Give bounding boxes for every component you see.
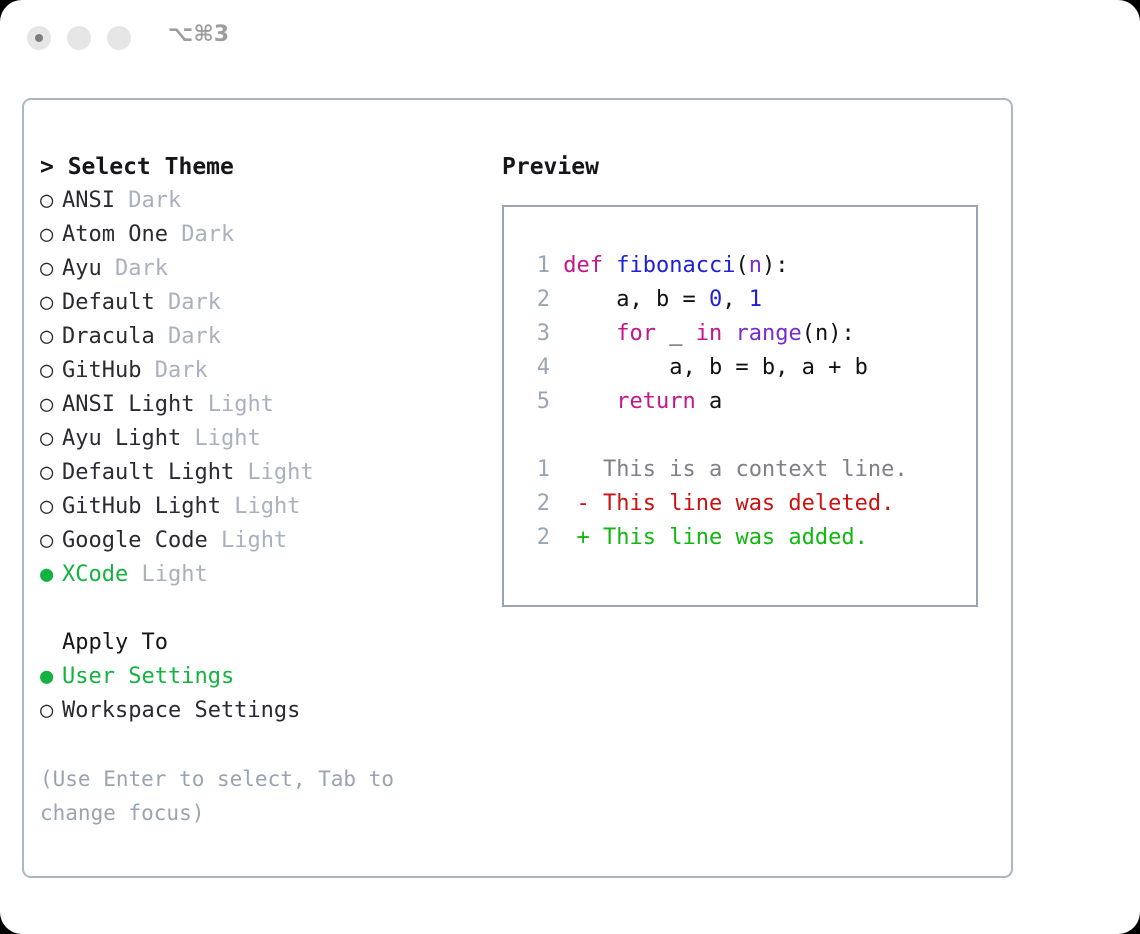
app-window: ⌥⌘3 > Select Theme ○ANSI Dark○Atom One D… xyxy=(0,0,1140,934)
code-token: ): xyxy=(762,253,789,278)
gutter-space xyxy=(550,491,577,516)
theme-option-dracula[interactable]: ○Dracula Dark xyxy=(40,320,480,354)
code-token: ( xyxy=(735,253,748,278)
code-token xyxy=(563,321,616,346)
gutter-space xyxy=(550,287,563,312)
theme-name: XCode xyxy=(62,562,128,587)
theme-list-column: > Select Theme ○ANSI Dark○Atom One Dark○… xyxy=(40,150,480,830)
diff-sign xyxy=(577,457,590,482)
code-line: 2 a, b = 0, 1 xyxy=(522,283,972,317)
code-line: 4 a, b = b, a + b xyxy=(522,351,972,385)
radio-selected-icon: ● xyxy=(40,660,62,694)
space xyxy=(221,494,234,519)
page-title: > Select Theme xyxy=(40,150,480,184)
radio-unselected-icon: ○ xyxy=(40,524,62,558)
theme-option-google-code[interactable]: ○Google Code Light xyxy=(40,524,480,558)
space xyxy=(234,460,247,485)
line-number: 5 xyxy=(522,385,550,419)
theme-selector-panel: > Select Theme ○ANSI Dark○Atom One Dark○… xyxy=(22,98,1013,878)
code-token: a xyxy=(696,389,723,414)
theme-name: Default xyxy=(62,290,155,315)
line-number: 4 xyxy=(522,351,550,385)
theme-kind-label: Dark xyxy=(128,188,181,213)
radio-unselected-icon: ○ xyxy=(40,456,62,490)
minimize-button[interactable] xyxy=(67,26,91,50)
code-token: return xyxy=(616,389,695,414)
space xyxy=(168,222,181,247)
space xyxy=(155,324,168,349)
theme-option-ayu[interactable]: ○Ayu Dark xyxy=(40,252,480,286)
theme-kind-label: Dark xyxy=(115,256,168,281)
radio-unselected-icon: ○ xyxy=(40,422,62,456)
space xyxy=(208,528,221,553)
apply-to-list: ●User Settings○Workspace Settings xyxy=(40,660,480,728)
theme-name: ANSI Light xyxy=(62,392,194,417)
line-number: 3 xyxy=(522,317,550,351)
theme-option-ansi-light[interactable]: ○ANSI Light Light xyxy=(40,388,480,422)
theme-option-github-light[interactable]: ○GitHub Light Light xyxy=(40,490,480,524)
theme-name: Ayu xyxy=(62,256,102,281)
gutter-space xyxy=(550,525,577,550)
radio-unselected-icon: ○ xyxy=(40,218,62,252)
diff-line: 1 This is a context line. xyxy=(522,453,972,487)
code-token: for xyxy=(616,321,656,346)
gutter-space xyxy=(550,321,563,346)
code-token: 0 xyxy=(709,287,722,312)
theme-name: Dracula xyxy=(62,324,155,349)
radio-unselected-icon: ○ xyxy=(40,286,62,320)
theme-kind-label: Dark xyxy=(155,358,208,383)
theme-option-atom-one[interactable]: ○Atom One Dark xyxy=(40,218,480,252)
radio-unselected-icon: ○ xyxy=(40,694,62,728)
code-token: a, b = xyxy=(563,287,709,312)
blank-line xyxy=(522,419,972,453)
apply-to-label: Apply To xyxy=(40,626,480,660)
apply-to-name: User Settings xyxy=(62,664,234,689)
diff-text: This line was added. xyxy=(590,525,868,550)
theme-name: Default Light xyxy=(62,460,234,485)
code-token: a, b = b, a + b xyxy=(563,355,868,380)
code-line: 5 return a xyxy=(522,385,972,419)
theme-option-default-light[interactable]: ○Default Light Light xyxy=(40,456,480,490)
theme-kind-label: Light xyxy=(221,528,287,553)
theme-kind-label: Light xyxy=(247,460,313,485)
diff-text: This line was deleted. xyxy=(590,491,895,516)
theme-name: Ayu Light xyxy=(62,426,181,451)
code-token xyxy=(603,253,616,278)
code-token: in xyxy=(696,321,723,346)
radio-selected-icon: ● xyxy=(40,558,62,592)
radio-unselected-icon: ○ xyxy=(40,320,62,354)
space xyxy=(128,562,141,587)
diff-line: 2 - This line was deleted. xyxy=(522,487,972,521)
theme-option-ayu-light[interactable]: ○Ayu Light Light xyxy=(40,422,480,456)
preview-title: Preview xyxy=(502,150,992,184)
theme-option-ansi[interactable]: ○ANSI Dark xyxy=(40,184,480,218)
diff-sign: - xyxy=(577,491,590,516)
spacer xyxy=(40,728,480,762)
code-token: fibonacci xyxy=(616,253,735,278)
space xyxy=(141,358,154,383)
theme-name: GitHub Light xyxy=(62,494,221,519)
theme-option-xcode[interactable]: ●XCode Light xyxy=(40,558,480,592)
theme-kind-label: Light xyxy=(141,562,207,587)
preview-box: 1 def fibonacci(n):2 a, b = 0, 13 for _ … xyxy=(502,205,978,607)
diff-text: This is a context line. xyxy=(590,457,908,482)
close-icon-dot xyxy=(35,34,43,42)
title-bar: ⌥⌘3 xyxy=(0,0,1140,78)
code-token xyxy=(722,321,735,346)
code-token: def xyxy=(563,253,603,278)
line-number: 1 xyxy=(522,453,550,487)
space xyxy=(102,256,115,281)
zoom-button[interactable] xyxy=(107,26,131,50)
apply-to-name: Workspace Settings xyxy=(62,698,300,723)
space xyxy=(115,188,128,213)
code-preview: 1 def fibonacci(n):2 a, b = 0, 13 for _ … xyxy=(522,249,972,555)
line-number: 2 xyxy=(522,487,550,521)
code-token: range xyxy=(735,321,801,346)
theme-kind-label: Dark xyxy=(168,290,221,315)
gutter-space xyxy=(550,253,563,278)
keyboard-shortcut-label: ⌥⌘3 xyxy=(168,22,229,47)
line-number: 1 xyxy=(522,249,550,283)
diff-line: 2 + This line was added. xyxy=(522,521,972,555)
code-line: 1 def fibonacci(n): xyxy=(522,249,972,283)
theme-name: Atom One xyxy=(62,222,168,247)
code-token: , xyxy=(722,287,749,312)
theme-kind-label: Dark xyxy=(168,324,221,349)
theme-kind-label: Light xyxy=(194,426,260,451)
theme-option-default[interactable]: ○Default Dark xyxy=(40,286,480,320)
theme-option-github[interactable]: ○GitHub Dark xyxy=(40,354,480,388)
code-token xyxy=(563,389,616,414)
radio-unselected-icon: ○ xyxy=(40,388,62,422)
close-button[interactable] xyxy=(27,26,51,50)
radio-unselected-icon: ○ xyxy=(40,252,62,286)
theme-name: GitHub xyxy=(62,358,141,383)
space xyxy=(194,392,207,417)
theme-kind-label: Light xyxy=(208,392,274,417)
gutter-space xyxy=(550,457,577,482)
gutter-space xyxy=(550,389,563,414)
theme-kind-label: Dark xyxy=(181,222,234,247)
preview-column: Preview 1 def fibonacci(n):2 a, b = 0, 1… xyxy=(502,150,992,184)
diff-sign: + xyxy=(577,525,590,550)
theme-list: ○ANSI Dark○Atom One Dark○Ayu Dark○Defaul… xyxy=(40,184,480,592)
theme-kind-label: Light xyxy=(234,494,300,519)
theme-name: ANSI xyxy=(62,188,115,213)
code-token: (n): xyxy=(802,321,855,346)
space xyxy=(181,426,194,451)
apply-to-option-user-settings[interactable]: ●User Settings xyxy=(40,660,480,694)
code-token: 1 xyxy=(749,287,762,312)
line-number: 2 xyxy=(522,283,550,317)
radio-unselected-icon: ○ xyxy=(40,354,62,388)
code-token: n xyxy=(749,253,762,278)
line-number: 2 xyxy=(522,521,550,555)
keyboard-hint: (Use Enter to select, Tab to change focu… xyxy=(40,762,450,830)
theme-name: Google Code xyxy=(62,528,208,553)
code-line: 3 for _ in range(n): xyxy=(522,317,972,351)
space xyxy=(155,290,168,315)
code-token: _ xyxy=(656,321,696,346)
apply-to-option-workspace-settings[interactable]: ○Workspace Settings xyxy=(40,694,480,728)
radio-unselected-icon: ○ xyxy=(40,490,62,524)
spacer xyxy=(40,592,480,626)
gutter-space xyxy=(550,355,563,380)
radio-unselected-icon: ○ xyxy=(40,184,62,218)
